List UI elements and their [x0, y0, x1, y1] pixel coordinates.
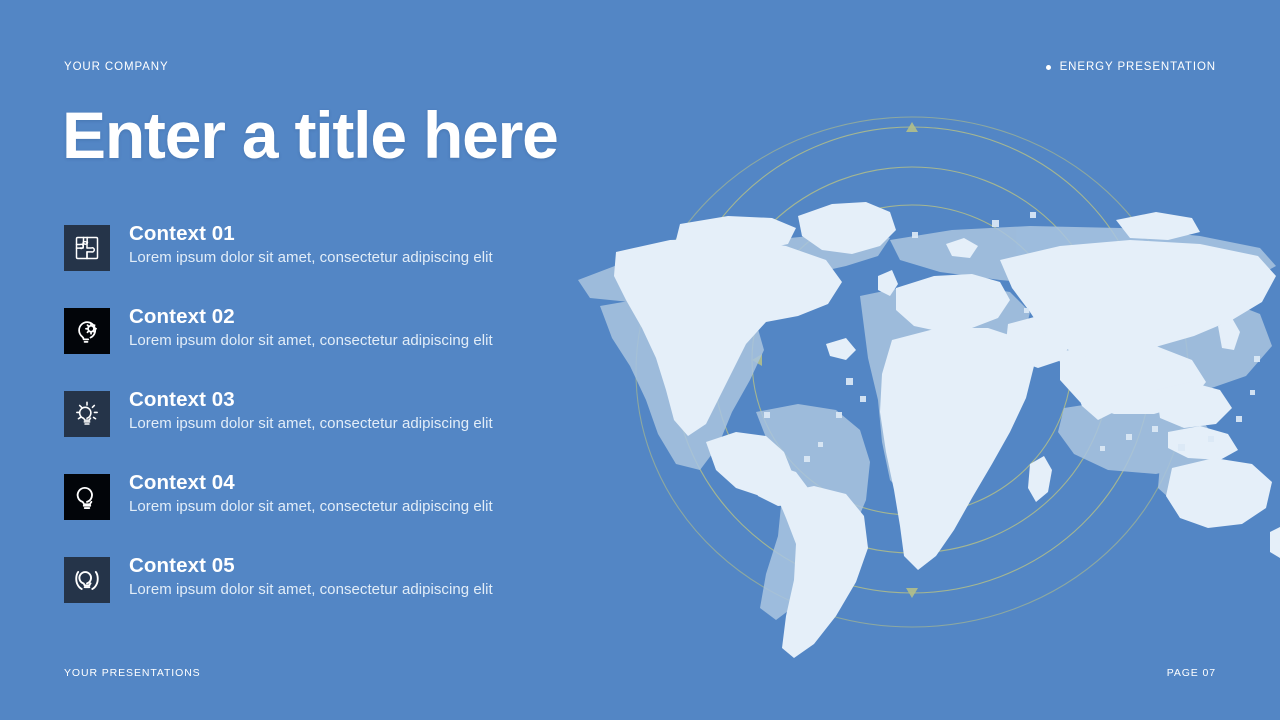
topic-label: ENERGY PRESENTATION	[1060, 61, 1216, 73]
orbit-arrow-icon	[752, 122, 1172, 598]
puzzle-piece-icon	[64, 225, 110, 271]
slide-header: YOUR COMPANY ENERGY PRESENTATION	[0, 55, 1280, 79]
list-item[interactable]: Context 04 Lorem ipsum dolor sit amet, c…	[64, 471, 584, 520]
slide-footer: YOUR PRESENTATIONS PAGE 07	[0, 664, 1280, 682]
list-item-title: Context 02	[129, 305, 493, 329]
list-item-text: Context 04 Lorem ipsum dolor sit amet, c…	[129, 471, 493, 517]
list-item-text: Context 02 Lorem ipsum dolor sit amet, c…	[129, 305, 493, 351]
list-item-description: Lorem ipsum dolor sit amet, consectetur …	[129, 498, 493, 517]
list-item-description: Lorem ipsum dolor sit amet, consectetur …	[129, 581, 493, 600]
footer-left-label: YOUR PRESENTATIONS	[64, 667, 201, 679]
list-item[interactable]: Context 03 Lorem ipsum dolor sit amet, c…	[64, 388, 584, 437]
list-item-text: Context 03 Lorem ipsum dolor sit amet, c…	[129, 388, 493, 434]
list-item[interactable]: Context 05 Lorem ipsum dolor sit amet, c…	[64, 554, 584, 603]
map-shadow-landmass	[578, 226, 1276, 620]
list-item[interactable]: Context 02 Lorem ipsum dolor sit amet, c…	[64, 305, 584, 354]
topic-tag: ENERGY PRESENTATION	[1046, 61, 1216, 73]
context-list: Context 01 Lorem ipsum dolor sit amet, c…	[64, 222, 584, 603]
list-item-title: Context 04	[129, 471, 493, 495]
orbit-rings-icon	[636, 117, 1188, 627]
list-item-text: Context 01 Lorem ipsum dolor sit amet, c…	[129, 222, 493, 268]
lightbulb-icon	[64, 474, 110, 520]
lightbulb-hands-icon	[64, 557, 110, 603]
presentation-slide: YOUR COMPANY ENERGY PRESENTATION Enter a…	[0, 0, 1280, 720]
list-item-description: Lorem ipsum dolor sit amet, consectetur …	[129, 249, 493, 268]
list-item-title: Context 03	[129, 388, 493, 412]
list-item-title: Context 01	[129, 222, 493, 246]
list-item-title: Context 05	[129, 554, 493, 578]
company-label: YOUR COMPANY	[64, 61, 169, 73]
list-item-description: Lorem ipsum dolor sit amet, consectetur …	[129, 415, 493, 434]
page-number: PAGE 07	[1167, 667, 1216, 679]
list-item-description: Lorem ipsum dolor sit amet, consectetur …	[129, 332, 493, 351]
list-item-text: Context 05 Lorem ipsum dolor sit amet, c…	[129, 554, 493, 600]
map-landmass	[614, 202, 1280, 658]
lightbulb-gear-icon	[64, 308, 110, 354]
title-block: Enter a title here	[62, 102, 782, 168]
bullet-dot-icon	[1046, 65, 1051, 70]
map-islands	[764, 212, 1260, 462]
list-item[interactable]: Context 01 Lorem ipsum dolor sit amet, c…	[64, 222, 584, 271]
lightbulb-rays-icon	[64, 391, 110, 437]
page-title: Enter a title here	[62, 102, 782, 168]
